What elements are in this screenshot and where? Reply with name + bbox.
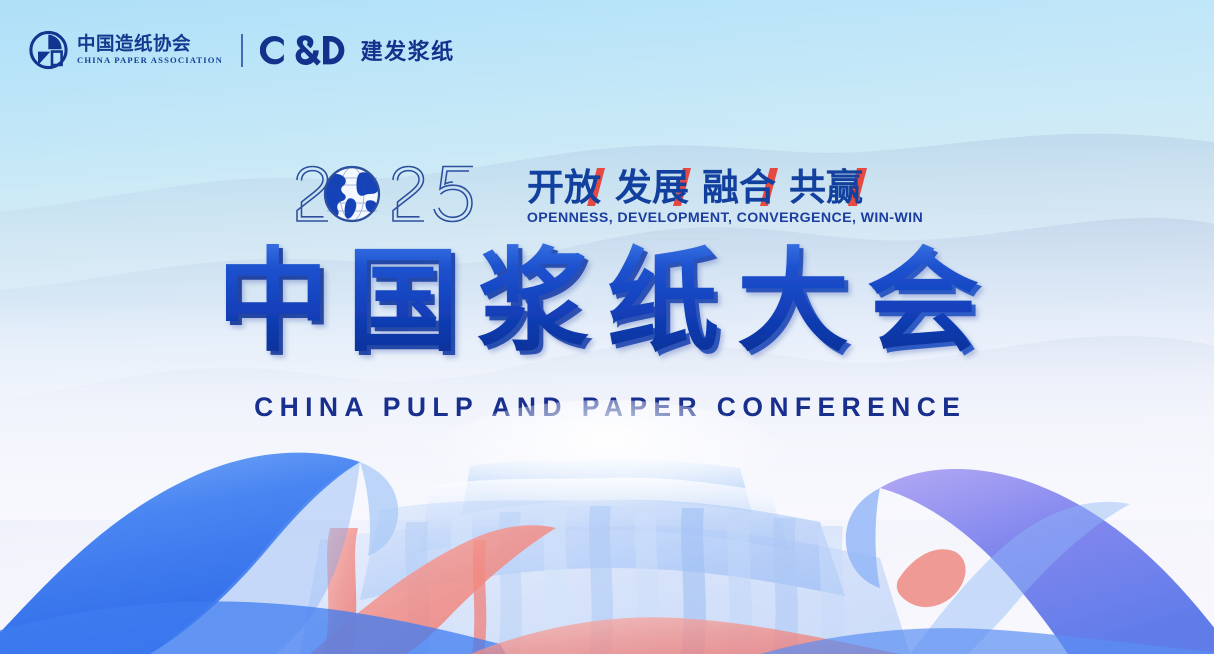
svg-text:发展: 发展 [615, 167, 689, 208]
globe-icon [324, 167, 379, 222]
svg-text:开放: 开放 [527, 167, 601, 208]
china-paper-association-wordmark: 中国造纸协会 CHINA PAPER ASSOCIATION [77, 35, 223, 65]
slogan-cn: 开放 发展 融合 共赢 [527, 165, 879, 209]
conference-banner: 中国造纸协会 CHINA PAPER ASSOCIATION 建发浆纸 [0, 0, 1214, 654]
cd-monogram-logo [260, 33, 352, 67]
slogan-block: 开放 发展 融合 共赢 OPENNESS, DEVELOPMENT, CONVE… [527, 163, 923, 226]
logo-bar: 中国造纸协会 CHINA PAPER ASSOCIATION 建发浆纸 [28, 26, 455, 74]
cd-pulp-paper-logo[interactable]: 建发浆纸 [260, 33, 455, 67]
sky-haze-top [0, 0, 1214, 150]
main-title: 中国浆纸大会 中国浆纸大会 [0, 240, 1214, 370]
slogan-en: OPENNESS, DEVELOPMENT, CONVERGENCE, WIN-… [527, 210, 923, 226]
logo-divider [241, 34, 243, 67]
cd-name-cn: 建发浆纸 [361, 34, 455, 66]
flowing-paper-ribbon-field [0, 400, 1214, 654]
china-paper-association-logo-mark [28, 29, 68, 71]
svg-text:中国浆纸大会: 中国浆纸大会 [217, 240, 997, 364]
year-2025 [291, 163, 513, 225]
china-paper-association-logo[interactable]: 中国造纸协会 CHINA PAPER ASSOCIATION [28, 29, 223, 71]
cpa-name-en: CHINA PAPER ASSOCIATION [77, 56, 223, 65]
year-slogan-lockup: 开放 发展 融合 共赢 OPENNESS, DEVELOPMENT, CONVE… [0, 163, 1214, 226]
svg-text:融合: 融合 [702, 167, 776, 208]
cpa-name-cn: 中国造纸协会 [77, 35, 223, 54]
svg-text:共赢: 共赢 [789, 166, 863, 208]
